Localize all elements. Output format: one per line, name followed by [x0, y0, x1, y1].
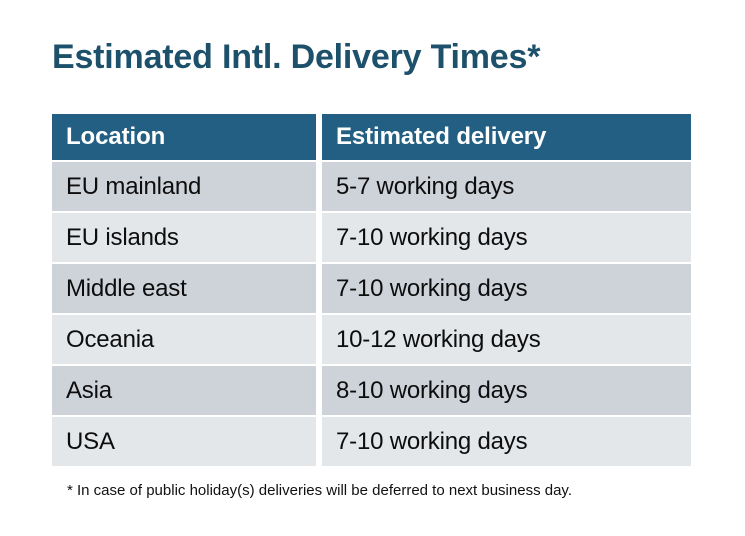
column-header-label-location: Location [66, 124, 165, 150]
table-row: EU mainland 5-7 working days [52, 162, 691, 211]
table-cell-delivery: 5-7 working days [322, 162, 691, 211]
cell-text-location: Asia [66, 377, 112, 405]
column-header-label-delivery: Estimated delivery [336, 124, 546, 150]
cell-text-location: EU mainland [66, 173, 201, 201]
table-header-cell-location: Location [52, 114, 316, 160]
table-cell-delivery: 7-10 working days [322, 213, 691, 262]
table-header-row: Location Estimated delivery [52, 114, 691, 160]
cell-text-delivery: 10-12 working days [336, 326, 541, 354]
cell-text-delivery: 5-7 working days [336, 173, 514, 201]
table-cell-location: Middle east [52, 264, 316, 313]
table-cell-location: Asia [52, 366, 316, 415]
table-cell-delivery: 10-12 working days [322, 315, 691, 364]
table-row: Oceania 10-12 working days [52, 315, 691, 364]
cell-text-delivery: 7-10 working days [336, 428, 527, 456]
table-row: Asia 8-10 working days [52, 366, 691, 415]
cell-text-location: EU islands [66, 224, 179, 252]
delivery-times-table: Location Estimated delivery EU mainland … [52, 114, 691, 468]
footnote-text: * In case of public holiday(s) deliverie… [67, 481, 572, 501]
table-cell-delivery: 7-10 working days [322, 264, 691, 313]
cell-text-location: Oceania [66, 326, 154, 354]
table-cell-location: USA [52, 417, 316, 466]
page-title: Estimated Intl. Delivery Times* [52, 36, 540, 78]
table-row: USA 7-10 working days [52, 417, 691, 466]
table-header-cell-delivery: Estimated delivery [322, 114, 691, 160]
table-cell-delivery: 8-10 working days [322, 366, 691, 415]
cell-text-location: USA [66, 428, 115, 456]
table-row: EU islands 7-10 working days [52, 213, 691, 262]
delivery-times-panel: Estimated Intl. Delivery Times* Location… [0, 0, 745, 536]
cell-text-delivery: 7-10 working days [336, 275, 527, 303]
table-cell-location: Oceania [52, 315, 316, 364]
table-cell-delivery: 7-10 working days [322, 417, 691, 466]
cell-text-location: Middle east [66, 275, 187, 303]
table-cell-location: EU islands [52, 213, 316, 262]
table-cell-location: EU mainland [52, 162, 316, 211]
cell-text-delivery: 7-10 working days [336, 224, 527, 252]
table-row: Middle east 7-10 working days [52, 264, 691, 313]
cell-text-delivery: 8-10 working days [336, 377, 527, 405]
